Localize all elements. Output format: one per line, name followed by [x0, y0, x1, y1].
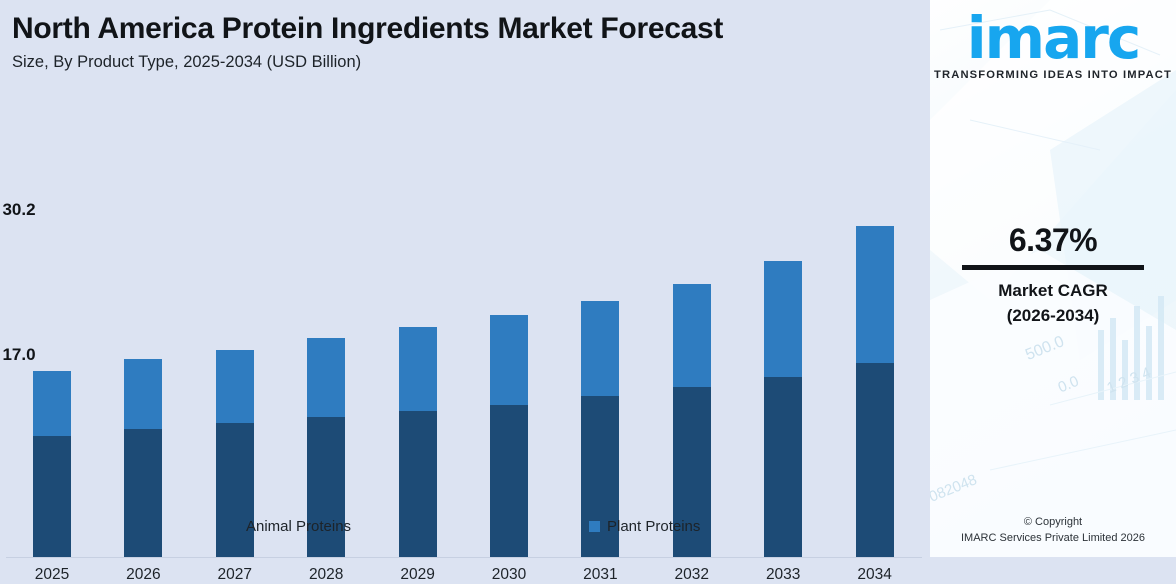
bar-group-2033[interactable] — [764, 261, 802, 557]
bar-segment-plant-proteins-2025[interactable] — [33, 371, 71, 437]
copyright-line1: © Copyright — [930, 515, 1176, 531]
cagr-block: 6.37% Market CAGR (2026-2034) — [930, 222, 1176, 328]
bar-segment-plant-proteins-2027[interactable] — [216, 350, 254, 423]
bar-segment-plant-proteins-2030[interactable] — [490, 315, 528, 405]
bar-group-2032[interactable] — [673, 284, 711, 557]
bar-segment-plant-proteins-2034[interactable] — [856, 226, 894, 363]
bar-total-label-2034: 30.2 — [0, 200, 64, 220]
x-axis-label-2032: 2032 — [647, 566, 737, 584]
bar-segment-plant-proteins-2032[interactable] — [673, 284, 711, 387]
legend-swatch-icon — [589, 521, 600, 532]
legend-item-animal-proteins[interactable]: Animal Proteins — [228, 518, 351, 535]
legend-label: Plant Proteins — [607, 518, 700, 535]
cagr-caption-line1: Market CAGR — [930, 279, 1176, 304]
legend-swatch-icon — [228, 521, 239, 532]
imarc-logo: imarc TRANSFORMING IDEAS INTO IMPACT — [930, 12, 1176, 81]
chart-legend: Animal ProteinsPlant Proteins — [0, 518, 920, 542]
bar-segment-plant-proteins-2033[interactable] — [764, 261, 802, 377]
x-axis-label-2025: 2025 — [7, 566, 97, 584]
x-axis-label-2029: 2029 — [373, 566, 463, 584]
legend-item-plant-proteins[interactable]: Plant Proteins — [589, 518, 700, 535]
logo-tagline: TRANSFORMING IDEAS INTO IMPACT — [930, 69, 1176, 81]
x-axis-label-2027: 2027 — [190, 566, 280, 584]
bar-segment-plant-proteins-2028[interactable] — [307, 338, 345, 417]
chart-page: North America Protein Ingredients Market… — [0, 0, 1176, 557]
chart-panel: North America Protein Ingredients Market… — [0, 0, 930, 557]
x-axis-label-2030: 2030 — [464, 566, 554, 584]
bar-segment-plant-proteins-2029[interactable] — [399, 327, 437, 411]
bar-segment-plant-proteins-2026[interactable] — [124, 359, 162, 429]
title-block: North America Protein Ingredients Market… — [12, 12, 912, 72]
axis-baseline — [6, 557, 922, 558]
page-title: North America Protein Ingredients Market… — [12, 12, 912, 46]
side-panel: 500.0 0.0 1 2 3 4 082048 imarc TRANSFORM… — [930, 0, 1176, 557]
plot-area: 17.0202520262027202820292030203120322033… — [0, 95, 930, 463]
copyright-line2: IMARC Services Private Limited 2026 — [930, 531, 1176, 547]
copyright-notice: © Copyright IMARC Services Private Limit… — [930, 515, 1176, 547]
cagr-caption: Market CAGR (2026-2034) — [930, 279, 1176, 328]
cagr-caption-line2: (2026-2034) — [930, 304, 1176, 329]
x-axis-label-2034: 2034 — [830, 566, 920, 584]
page-subtitle: Size, By Product Type, 2025-2034 (USD Bi… — [12, 53, 912, 72]
bar-total-label-2025: 17.0 — [0, 345, 64, 365]
x-axis-label-2028: 2028 — [281, 566, 371, 584]
x-axis-label-2026: 2026 — [98, 566, 188, 584]
legend-label: Animal Proteins — [246, 518, 351, 535]
x-axis-label-2033: 2033 — [738, 566, 828, 584]
cagr-divider — [962, 265, 1144, 270]
bar-segment-plant-proteins-2031[interactable] — [581, 301, 619, 396]
logo-wordmark: imarc — [930, 12, 1176, 65]
bar-group-2034[interactable] — [856, 226, 894, 557]
x-axis-label-2031: 2031 — [555, 566, 645, 584]
cagr-value: 6.37% — [930, 222, 1176, 259]
